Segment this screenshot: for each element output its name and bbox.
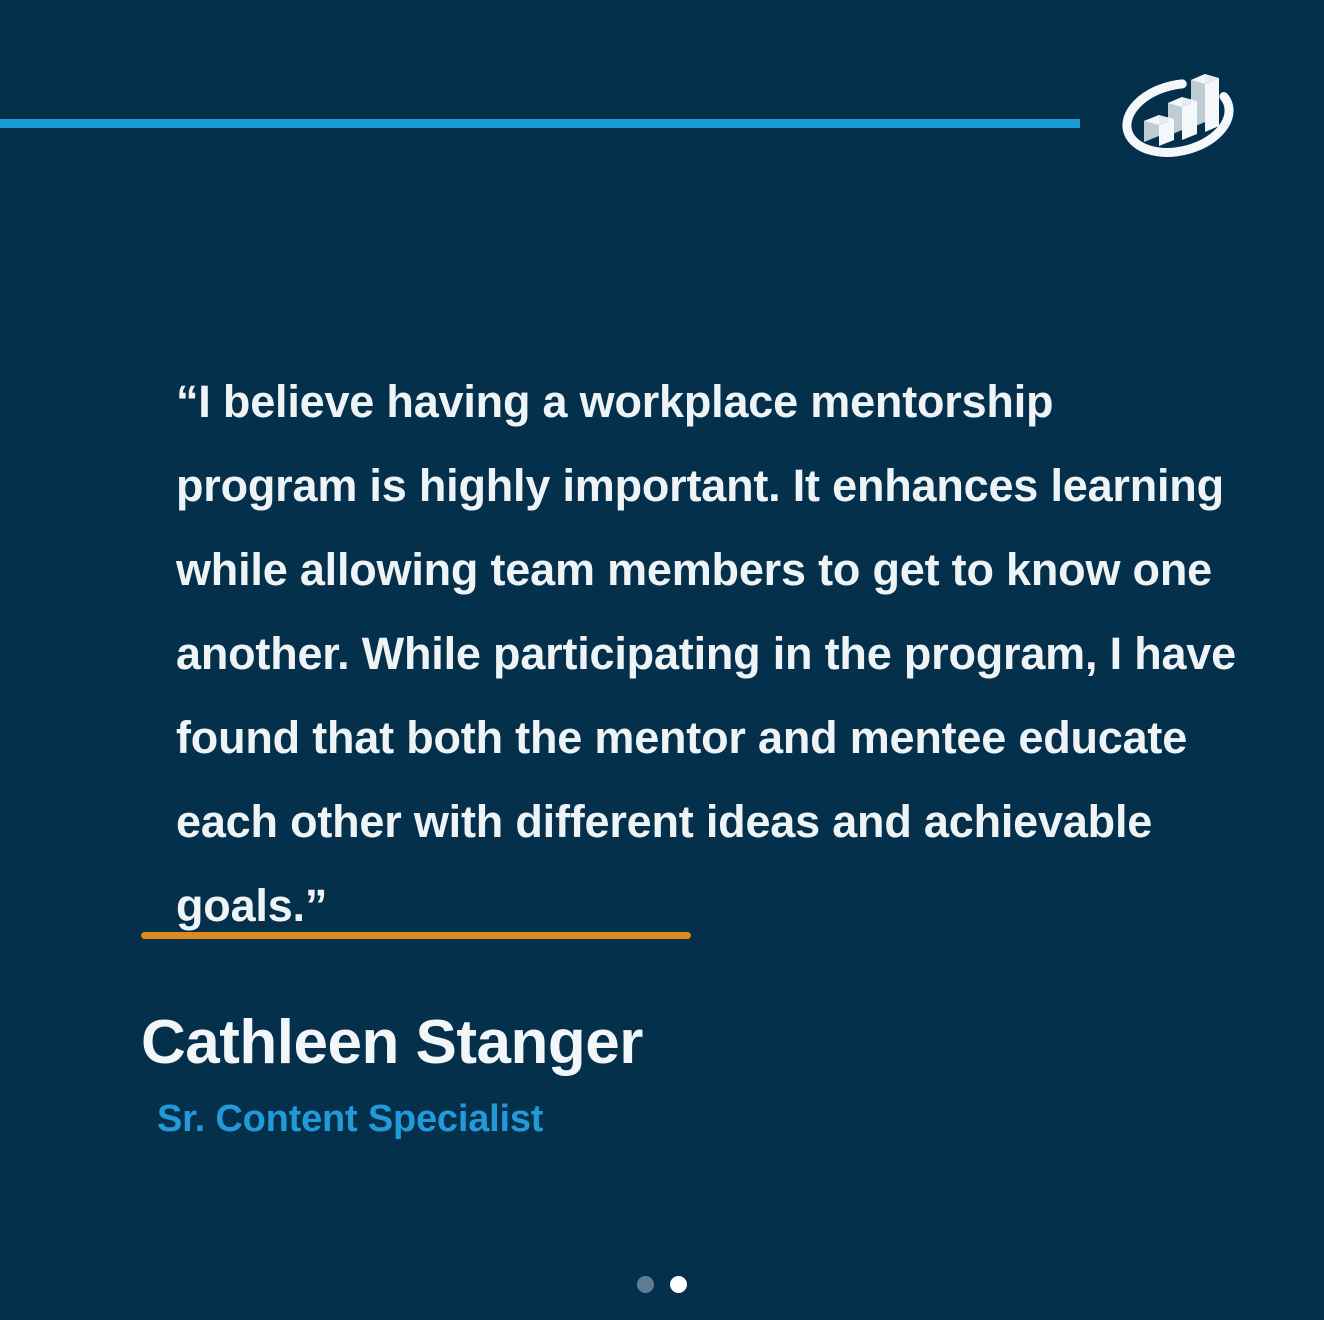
top-accent-rule	[0, 119, 1080, 128]
pagination-dot-1[interactable]	[637, 1276, 654, 1293]
brand-logo	[1118, 58, 1238, 178]
author-name: Cathleen Stanger	[141, 1005, 643, 1081]
author-job-title: Sr. Content Specialist	[157, 1094, 543, 1144]
divider-rule	[141, 932, 691, 939]
pagination-dot-2[interactable]	[670, 1276, 687, 1293]
testimonial-quote: “I believe having a workplace mentorship…	[176, 360, 1246, 948]
bar-chart-ellipse-logo-icon	[1118, 58, 1238, 178]
carousel-pagination[interactable]	[0, 1276, 1324, 1293]
